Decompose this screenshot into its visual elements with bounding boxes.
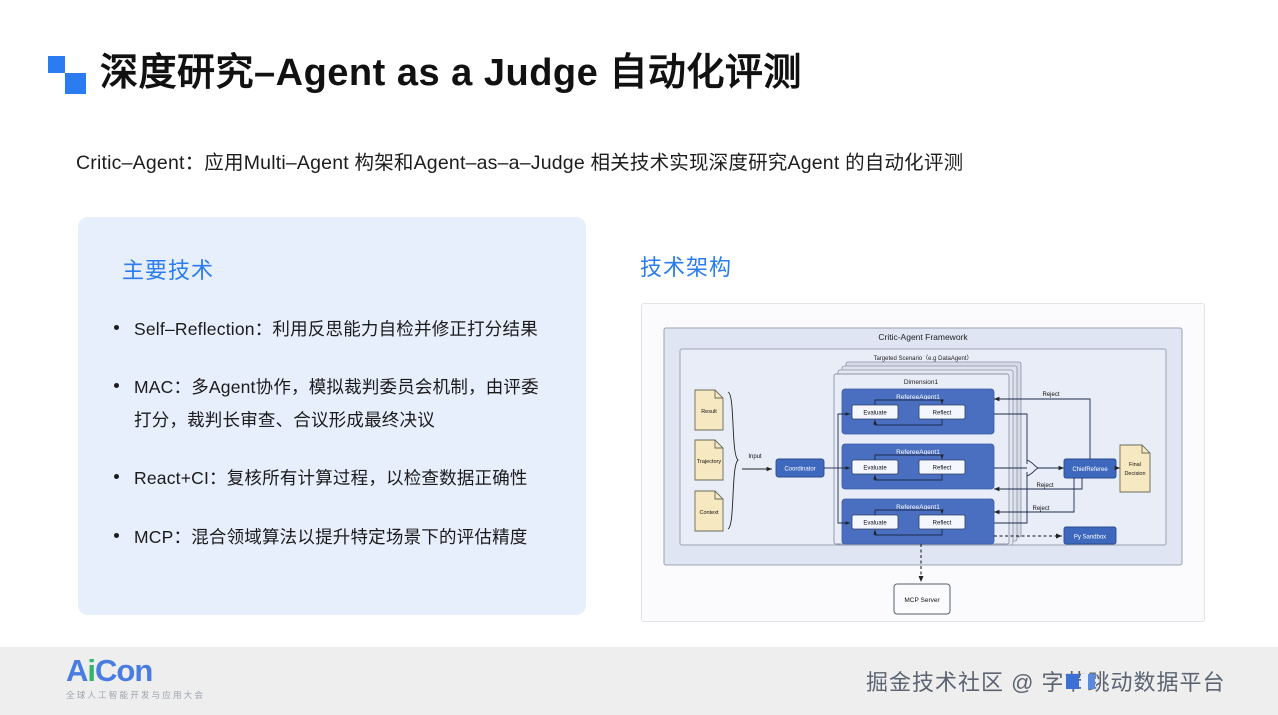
watermark-text: 掘金技术社区 @ 字节跳动数据平台 <box>866 665 1226 697</box>
aicon-letter-a: A <box>66 653 87 688</box>
agent-reflect-label: Reflect <box>933 466 952 472</box>
aicon-letter-i: i <box>87 653 95 688</box>
bullet-dot-icon <box>114 325 119 330</box>
aicon-tagline: 全球人工智能开发与应用大会 <box>66 689 266 701</box>
agent-reflect-label: Reflect <box>933 411 952 417</box>
svg-text:Context: Context <box>700 510 719 516</box>
bullet-dot-icon <box>114 383 119 388</box>
input-doc-context: Context <box>695 491 723 531</box>
reject-label: Reject <box>1042 392 1059 398</box>
aicon-wordmark: AiCon <box>66 655 266 686</box>
list-item-label: MCP：混合领域算法以提升特定场景下的评估精度 <box>134 527 528 547</box>
bullet-dot-icon <box>114 533 119 538</box>
left-card-heading: 主要技术 <box>122 253 552 285</box>
chief-referee-label: ChiefReferee <box>1072 467 1108 473</box>
aicon-letters-con: Con <box>95 653 152 688</box>
watermark-badge-icon <box>1064 670 1098 694</box>
agent-evaluate-label: Evaluate <box>863 411 887 417</box>
coordinator-label: Coordinator <box>784 467 815 473</box>
svg-text:Decision: Decision <box>1124 471 1145 477</box>
reject-label: Reject <box>1032 506 1049 512</box>
svg-text:Trajectory: Trajectory <box>697 459 721 465</box>
mcp-server-label: MCP Server <box>904 597 940 604</box>
squares-logo-icon <box>48 52 86 96</box>
architecture-diagram: Critic-Agent Framework Targeted Scenario… <box>641 303 1205 622</box>
list-item: MAC：多Agent协作，模拟裁判委员会机制，由评委打分，裁判长审查、合议形成最… <box>112 371 552 436</box>
list-item: Self–Reflection：利用反思能力自检并修正打分结果 <box>112 313 552 345</box>
framework-title: Critic-Agent Framework <box>878 332 968 342</box>
slide-header: 深度研究–Agent as a Judge 自动化评测 <box>48 52 802 96</box>
list-item-label: Self–Reflection：利用反思能力自检并修正打分结果 <box>134 319 538 339</box>
input-doc-result: Result <box>695 390 723 430</box>
py-sandbox-label: Py Sandbox <box>1074 535 1106 541</box>
svg-text:Result: Result <box>701 409 717 415</box>
svg-text:Final: Final <box>1129 462 1141 468</box>
bullet-dot-icon <box>114 474 119 479</box>
scenario-title: Targeted Scenario（e.g DataAgent） <box>873 355 972 362</box>
agent-evaluate-label: Evaluate <box>863 466 887 472</box>
key-technologies-card: 主要技术 Self–Reflection：利用反思能力自检并修正打分结果 MAC… <box>78 217 586 615</box>
input-doc-trajectory: Trajectory <box>695 440 723 480</box>
list-item-label: MAC：多Agent协作，模拟裁判委员会机制，由评委打分，裁判长审查、合议形成最… <box>134 377 539 429</box>
architecture-diagram-svg: Critic-Agent Framework Targeted Scenario… <box>642 304 1204 621</box>
reject-label: Reject <box>1036 483 1053 489</box>
list-item-label: React+CI：复核所有计算过程，以检查数据正确性 <box>134 468 528 488</box>
list-item: React+CI：复核所有计算过程，以检查数据正确性 <box>112 462 552 494</box>
slide-subtitle: Critic–Agent：应用Multi–Agent 构架和Agent–as–a… <box>76 146 963 175</box>
list-item: MCP：混合领域算法以提升特定场景下的评估精度 <box>112 521 552 553</box>
architecture-heading: 技术架构 <box>640 250 732 282</box>
input-edge-label: Input <box>748 454 762 460</box>
agent-evaluate-label: Evaluate <box>863 521 887 527</box>
page-title: 深度研究–Agent as a Judge 自动化评测 <box>100 53 802 95</box>
final-decision-doc: Final Decision <box>1120 445 1150 492</box>
dimension-title: Dimension1 <box>904 379 939 386</box>
technology-bullet-list: Self–Reflection：利用反思能力自检并修正打分结果 MAC：多Age… <box>112 313 552 553</box>
agent-reflect-label: Reflect <box>933 521 952 527</box>
aicon-logo: AiCon 全球人工智能开发与应用大会 <box>66 655 266 701</box>
